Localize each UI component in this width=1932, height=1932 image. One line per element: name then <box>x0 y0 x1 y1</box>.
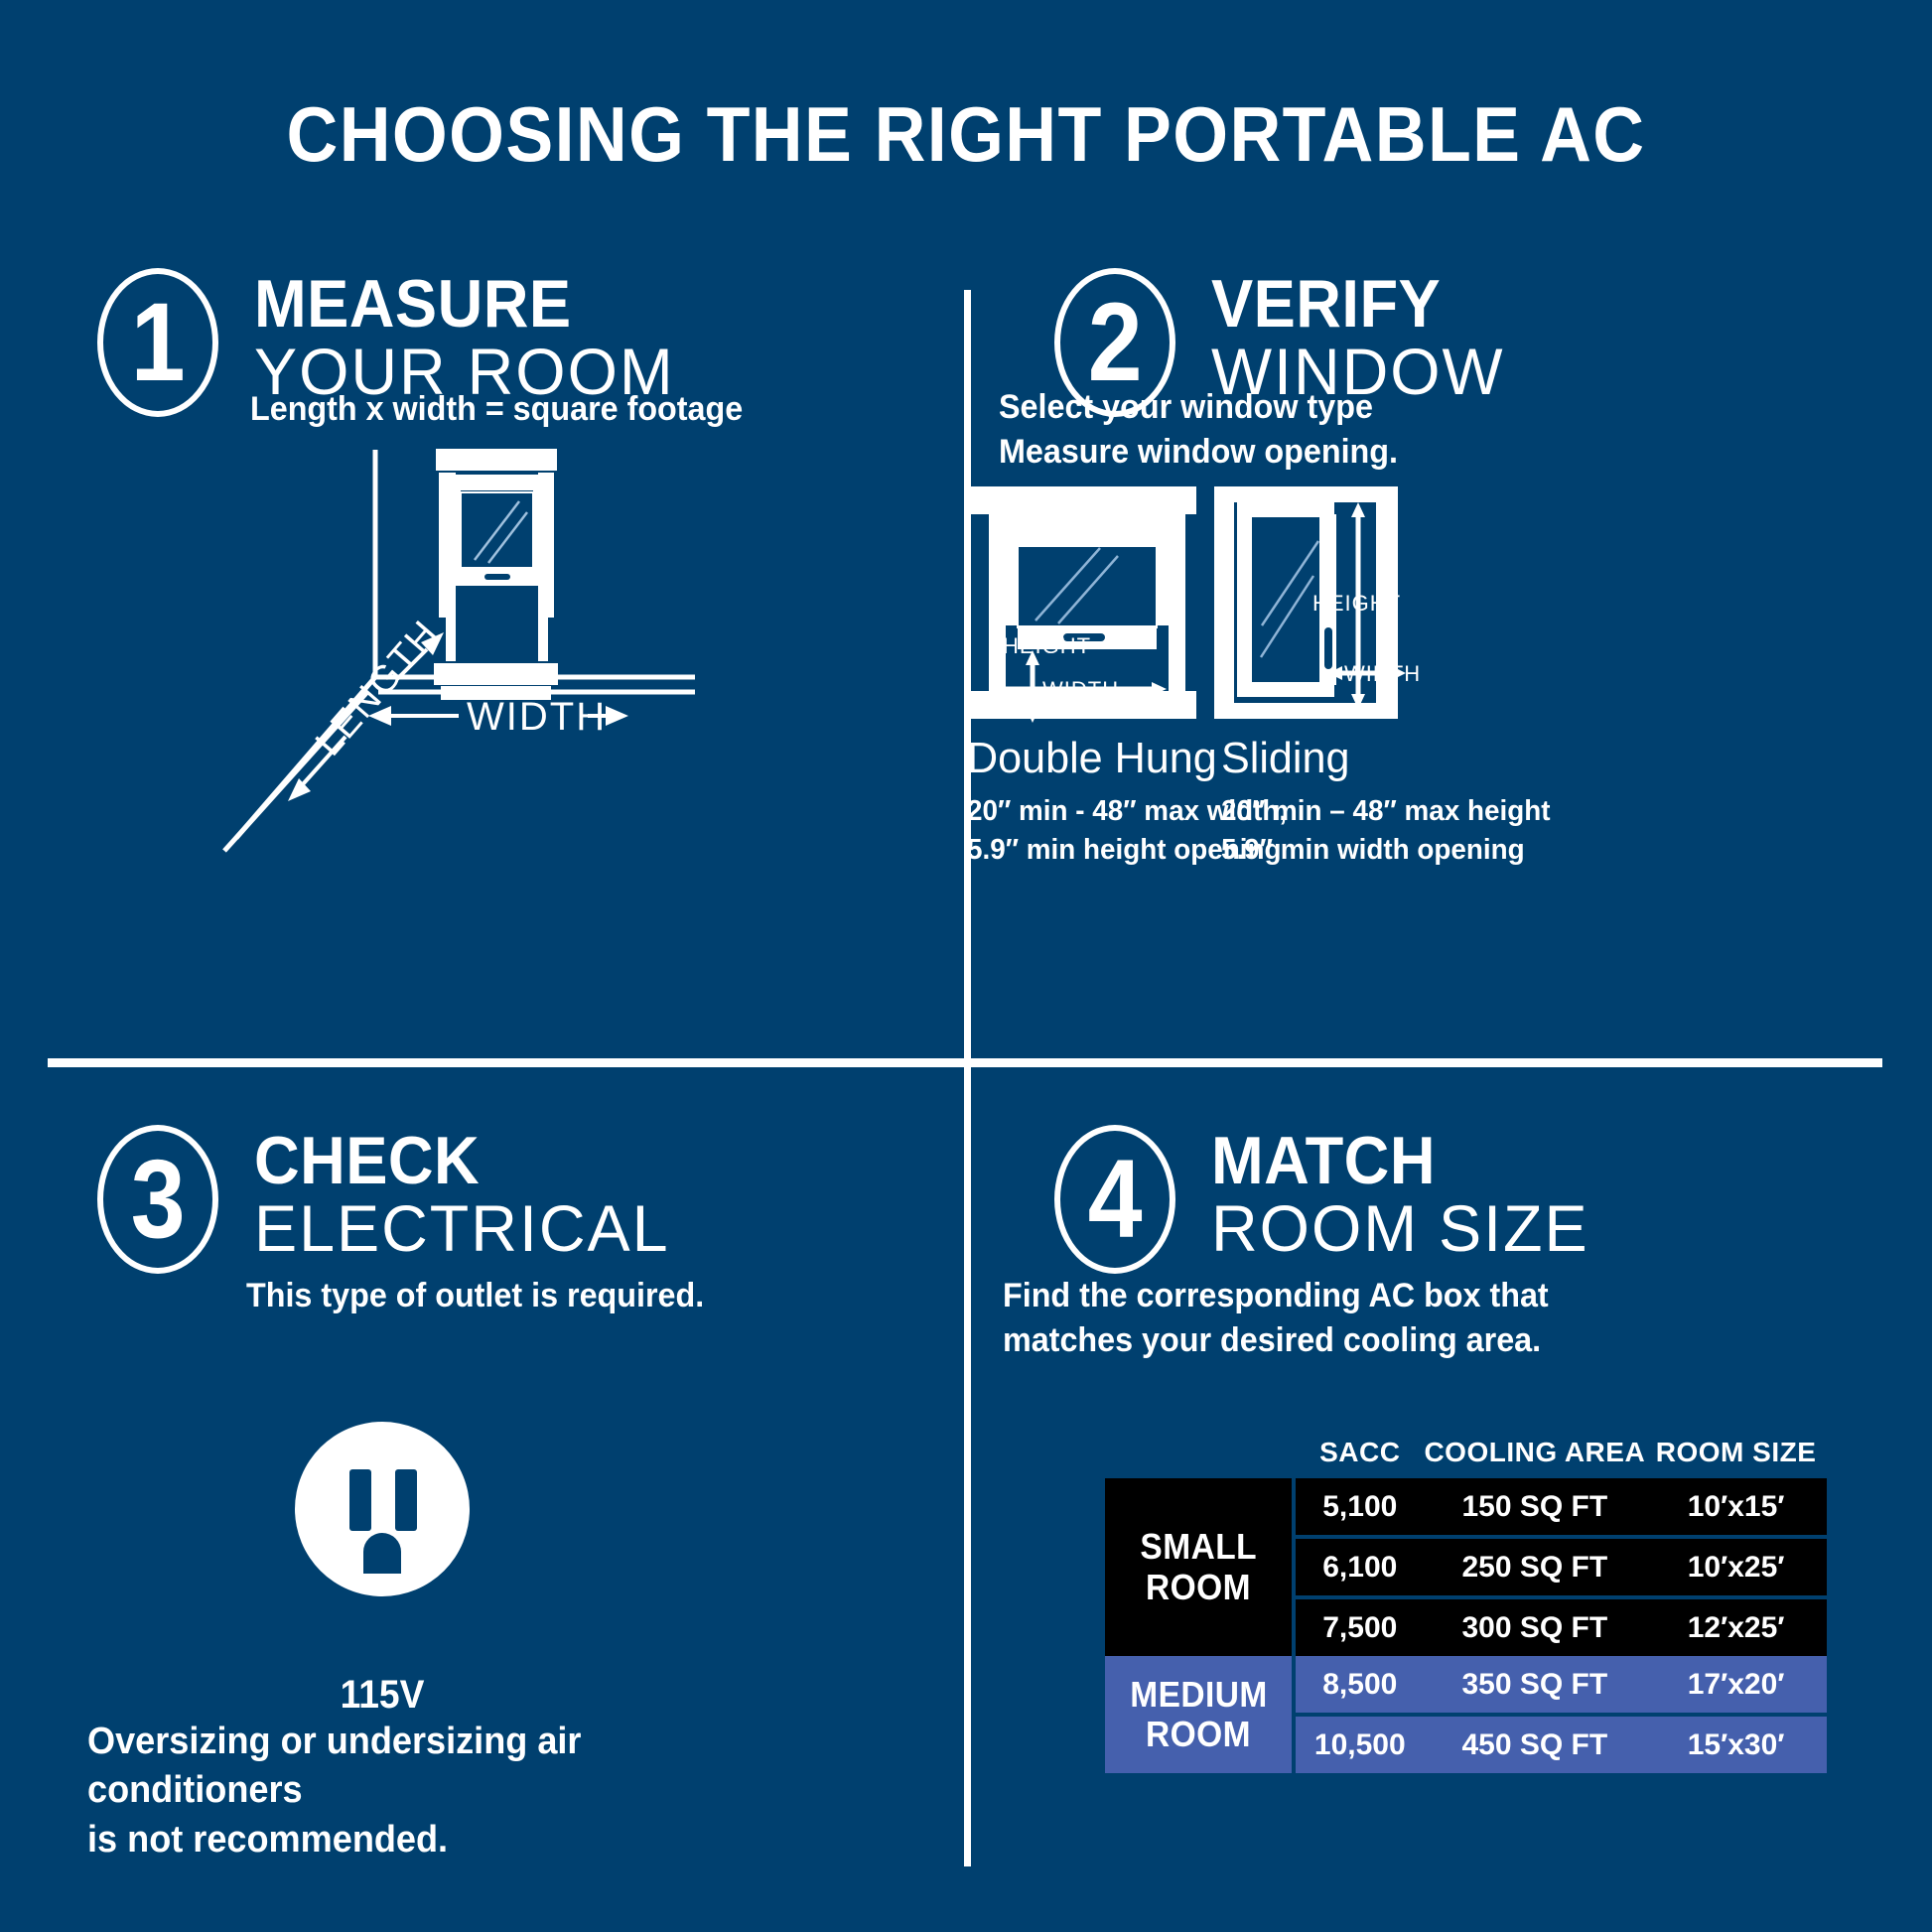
voltage-label: 115V <box>295 1673 471 1718</box>
table-col-sacc: SACC <box>1296 1437 1424 1478</box>
step-3-number: 3 <box>131 1144 186 1255</box>
ac-sizing-table: SACC COOLING AREA ROOM SIZE SMALLROOM 5,… <box>1105 1437 1827 1773</box>
width-label: WIDTH <box>467 695 607 740</box>
step-4-subtext: Find the corresponding AC box that match… <box>1003 1274 1549 1363</box>
glass-shine-2 <box>488 512 527 563</box>
horizontal-divider <box>48 1058 1882 1067</box>
page-title: CHOOSING THE RIGHT PORTABLE AC <box>77 89 1855 180</box>
table-col-blank <box>1105 1437 1296 1478</box>
step-3-heading: CHECK ELECTRICAL <box>254 1129 678 1265</box>
step-3-number-badge: 3 <box>97 1125 218 1274</box>
table-body: SMALLROOM 5,100 150 SQ FT 10′x15′ 6,100 … <box>1105 1478 1827 1773</box>
glass-shine-1 <box>1035 548 1100 621</box>
sash-handle <box>1324 627 1332 669</box>
glass-shine-2 <box>1058 556 1118 623</box>
cell-cooling-area: 300 SQ FT <box>1424 1599 1645 1656</box>
sliding-width-label: WIDTH <box>1344 661 1421 687</box>
double-hung-height-label: HEIGHT <box>1003 633 1091 659</box>
sash-handle <box>484 574 510 580</box>
table-col-room-size: ROOM SIZE <box>1645 1437 1827 1478</box>
sliding-spec: 20″ min – 48″ max height 5.9″ min width … <box>1221 792 1550 869</box>
step-4-header: 4 MATCH ROOM SIZE <box>1054 1125 1596 1274</box>
table-header: SACC COOLING AREA ROOM SIZE <box>1105 1437 1827 1478</box>
table-header-row: SACC COOLING AREA ROOM SIZE <box>1105 1437 1827 1478</box>
step-1-room-diagram <box>0 248 964 1058</box>
cell-room-size: 10′x25′ <box>1645 1539 1827 1599</box>
cell-room-size: 17′x20′ <box>1645 1656 1827 1717</box>
cell-sacc: 6,100 <box>1296 1539 1424 1599</box>
table-row: MEDIUMROOM 8,500 350 SQ FT 17′x20′ <box>1105 1656 1827 1717</box>
cell-sacc: 7,500 <box>1296 1599 1424 1656</box>
cell-sacc: 8,500 <box>1296 1656 1424 1717</box>
table-row: SMALLROOM 5,100 150 SQ FT 10′x15′ <box>1105 1478 1827 1539</box>
double-hung-title: Double Hung <box>967 737 1217 780</box>
vertical-divider <box>964 290 971 1866</box>
infographic-root: CHOOSING THE RIGHT PORTABLE AC 1 MEASURE… <box>0 0 1932 1932</box>
outlet-slot-left <box>349 1469 371 1531</box>
cell-room-size: 12′x25′ <box>1645 1599 1827 1656</box>
step-2-window-diagrams <box>971 248 1932 1058</box>
window-illustration <box>434 449 558 700</box>
cell-sacc: 5,100 <box>1296 1478 1424 1539</box>
step-3-heading-light: ELECTRICAL <box>254 1193 670 1264</box>
step-4-number: 4 <box>1088 1144 1143 1255</box>
cell-cooling-area: 250 SQ FT <box>1424 1539 1645 1599</box>
step-3-header: 3 CHECK ELECTRICAL <box>97 1125 678 1274</box>
step-3-heading-bold: CHECK <box>254 1129 648 1193</box>
cell-cooling-area: 450 SQ FT <box>1424 1717 1645 1773</box>
step-4-heading-light: ROOM SIZE <box>1211 1193 1589 1264</box>
ac-sizing-table-grid: SACC COOLING AREA ROOM SIZE SMALLROOM 5,… <box>1105 1437 1827 1773</box>
outlet-slot-right <box>395 1469 417 1531</box>
step-1-measure-your-room: 1 MEASURE YOUR ROOM Length x width = squ… <box>0 248 964 1058</box>
row-group-label-medium: MEDIUMROOM <box>1105 1656 1296 1773</box>
row-group-label-small: SMALLROOM <box>1105 1478 1296 1656</box>
cell-cooling-area: 150 SQ FT <box>1424 1478 1645 1539</box>
double-hung-width-label: WIDTH <box>1042 677 1119 703</box>
step-4-number-badge: 4 <box>1054 1125 1175 1274</box>
step-2-verify-window: 2 VERIFY WINDOW Select your window type … <box>971 248 1932 1058</box>
electrical-outlet-icon <box>288 1415 477 1608</box>
sizing-note: Oversizing or undersizing air conditione… <box>87 1718 748 1864</box>
step-3-subtext: This type of outlet is required. <box>246 1274 704 1318</box>
cell-room-size: 15′x30′ <box>1645 1717 1827 1773</box>
cell-room-size: 10′x15′ <box>1645 1478 1827 1539</box>
step-4-heading-bold: MATCH <box>1211 1129 1570 1193</box>
cell-sacc: 10,500 <box>1296 1717 1424 1773</box>
sliding-title: Sliding <box>1221 737 1349 780</box>
outlet-ground-hole <box>363 1533 401 1574</box>
cell-cooling-area: 350 SQ FT <box>1424 1656 1645 1717</box>
table-col-cooling-area: COOLING AREA <box>1424 1437 1645 1478</box>
sliding-height-label: HEIGHT <box>1312 591 1401 617</box>
step-4-heading: MATCH ROOM SIZE <box>1211 1129 1596 1265</box>
